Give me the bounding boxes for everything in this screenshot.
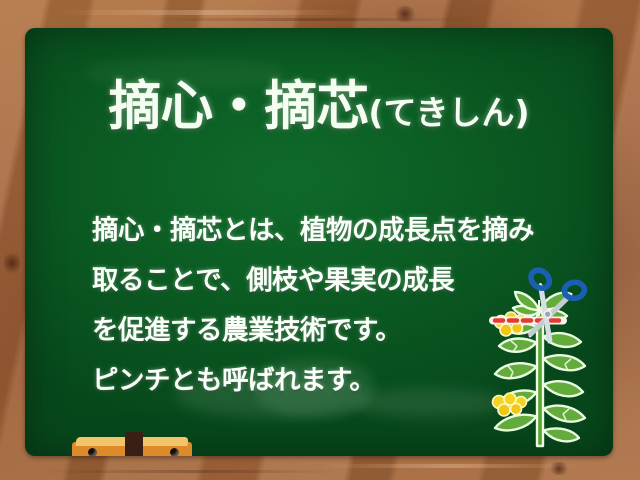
title-kana-text: (てきしん) [368,93,529,132]
chalkboard-surface: 摘心・摘芯(てきしん) 摘心・摘芯とは、植物の成長点を摘み 取ることで、側枝や果… [25,28,613,456]
chalk-tray [50,452,613,456]
eraser-screw [170,448,179,456]
blackboard-eraser[interactable] [70,434,194,456]
body-line-2: 取ることで、側枝や果実の成長 [92,256,512,306]
body-line-4: ピンチとも呼ばれます。 [92,356,512,406]
page-title: 摘心・摘芯(てきしん) [25,80,613,133]
leaf-right-5 [545,428,579,441]
body-line-1: 摘心・摘芯とは、植物の成長点を摘み [92,206,512,256]
title-main-text: 摘心・摘芯 [108,76,368,137]
chalkboard-infographic: 摘心・摘芯(てきしん) 摘心・摘芯とは、植物の成長点を摘み 取ることで、側枝や果… [0,0,640,480]
plant-pinching-illustration [477,250,613,450]
eraser-strap [125,432,143,456]
body-line-3: を促進する農業技術です。 [92,306,512,356]
eraser-screw [88,448,97,456]
leaf-left-4 [495,415,535,431]
leaf-left-2 [495,363,535,378]
flower-cluster-lower [493,393,527,416]
leaf-right-3 [545,381,583,396]
leaf-right-2 [545,355,585,370]
body-description: 摘心・摘芯とは、植物の成長点を摘み 取ることで、側枝や果実の成長 を促進する農業… [92,206,512,406]
